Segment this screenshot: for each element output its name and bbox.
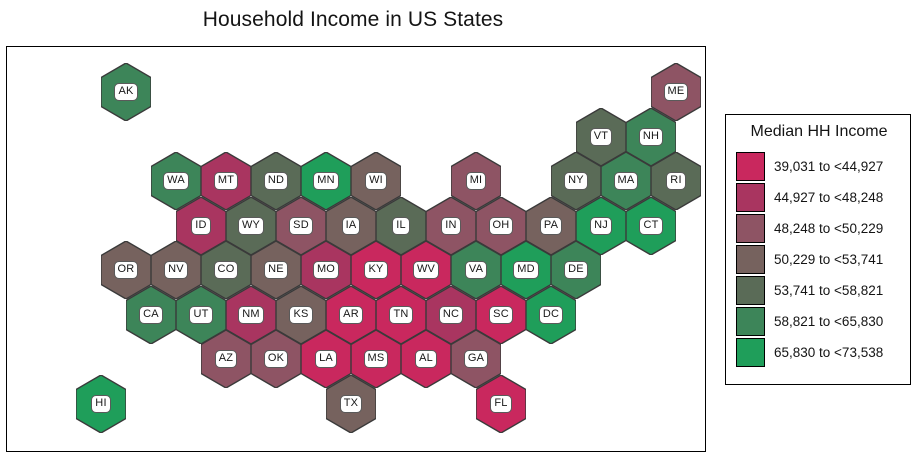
legend-item-2[interactable]: 48,248 to <50,229 (736, 213, 883, 244)
legend-label-5: 58,821 to <65,830 (774, 314, 883, 329)
legend-swatch-2 (736, 214, 765, 243)
hex-shape-ok (251, 330, 301, 388)
legend-swatch-0 (736, 152, 765, 181)
legend: Median HH Income 39,031 to <44,92744,927… (725, 114, 911, 385)
hex-shape-tx (326, 375, 376, 433)
hex-tile-tx[interactable]: TX (326, 375, 376, 433)
hex-tile-al[interactable]: AL (401, 330, 451, 388)
legend-label-6: 65,830 to <73,538 (774, 345, 883, 360)
legend-label-3: 50,229 to <53,741 (774, 252, 883, 267)
hex-tile-hi[interactable]: HI (76, 375, 126, 433)
hex-tile-ok[interactable]: OK (251, 330, 301, 388)
legend-item-5[interactable]: 58,821 to <65,830 (736, 306, 883, 337)
legend-swatch-5 (736, 307, 765, 336)
hex-tile-dc[interactable]: DC (526, 286, 576, 344)
legend-swatch-3 (736, 245, 765, 274)
hex-tile-grid: AKMEVTNHWAMTNDMNWIMINYMARIIDWYSDIAILINOH… (7, 47, 705, 451)
legend-label-0: 39,031 to <44,927 (774, 159, 883, 174)
hex-tile-fl[interactable]: FL (476, 375, 526, 433)
legend-swatch-1 (736, 183, 765, 212)
hex-tile-ak[interactable]: AK (101, 63, 151, 121)
hex-shape-az (201, 330, 251, 388)
hex-shape-hi (76, 375, 126, 433)
hex-tile-az[interactable]: AZ (201, 330, 251, 388)
hex-tile-ct[interactable]: CT (626, 197, 676, 255)
legend-label-4: 53,741 to <58,821 (774, 283, 883, 298)
hex-shape-fl (476, 375, 526, 433)
legend-item-3[interactable]: 50,229 to <53,741 (736, 244, 883, 275)
legend-item-4[interactable]: 53,741 to <58,821 (736, 275, 883, 306)
legend-item-list: 39,031 to <44,92744,927 to <48,24848,248… (736, 151, 883, 368)
hex-tile-ca[interactable]: CA (126, 286, 176, 344)
legend-title: Median HH Income (726, 123, 912, 141)
legend-swatch-4 (736, 276, 765, 305)
hex-shape-dc (526, 286, 576, 344)
hex-shape-al (401, 330, 451, 388)
legend-item-6[interactable]: 65,830 to <73,538 (736, 337, 883, 368)
page-title: Household Income in US States (0, 8, 706, 32)
legend-label-1: 44,927 to <48,248 (774, 190, 883, 205)
legend-item-1[interactable]: 44,927 to <48,248 (736, 182, 883, 213)
hex-shape-ak (101, 63, 151, 121)
legend-item-0[interactable]: 39,031 to <44,927 (736, 151, 883, 182)
hex-shape-ct (626, 197, 676, 255)
hex-shape-ca (126, 286, 176, 344)
legend-swatch-6 (736, 338, 765, 367)
legend-label-2: 48,248 to <50,229 (774, 221, 883, 236)
hex-map-panel: AKMEVTNHWAMTNDMNWIMINYMARIIDWYSDIAILINOH… (6, 46, 706, 452)
